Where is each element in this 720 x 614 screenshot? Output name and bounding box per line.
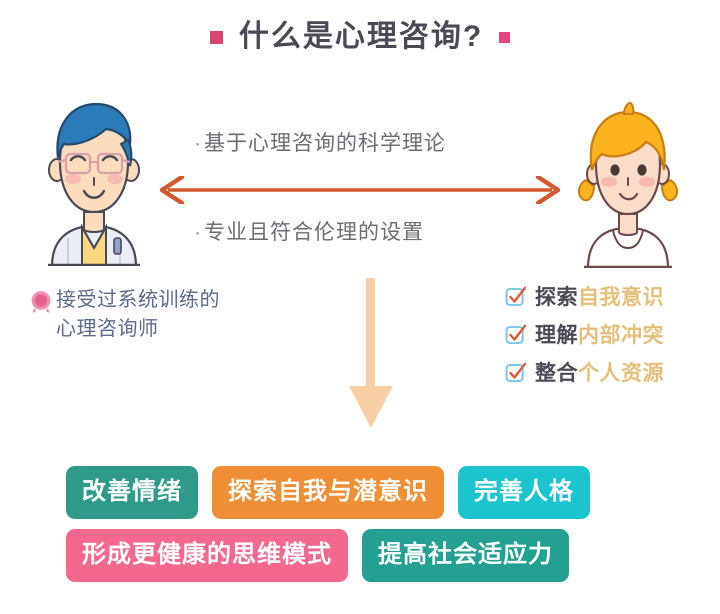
counselor-caption: 接受过系统训练的 心理咨询师 <box>30 286 280 344</box>
checklist-item-3[interactable]: 整合个人资源 <box>505 357 705 387</box>
outcome-tag-healthier-thinking[interactable]: 形成更健康的思维模式 <box>66 529 348 582</box>
page-title-text: 什么是心理咨询? <box>239 22 483 52</box>
female-client-avatar <box>558 98 698 268</box>
checklist-item-3-prefix: 整合 <box>535 362 578 385</box>
checklist-item-1-suffix: 自我意识 <box>578 286 664 309</box>
medal-rosette-icon <box>30 289 52 313</box>
center-relationship-block: ·基于心理咨询的科学理论 ·专业且符合伦理的设置 <box>150 140 570 240</box>
checklist-item-3-suffix: 个人资源 <box>578 362 664 385</box>
center-line-1-text: 基于心理咨询的科学理论 <box>204 132 446 155</box>
outcome-tag-improve-emotion[interactable]: 改善情绪 <box>66 466 198 519</box>
checkbox-checked-icon[interactable] <box>505 286 526 307</box>
goals-checklist: 探索自我意识 理解内部冲突 整合个人资源 <box>505 281 705 395</box>
square-bullet-icon-left <box>210 31 223 44</box>
down-arrow-icon <box>341 278 401 430</box>
infographic-canvas: 什么是心理咨询? <box>0 0 720 614</box>
center-line-2: ·专业且符合伦理的设置 <box>194 221 534 244</box>
center-line-1: ·基于心理咨询的科学理论 <box>194 132 534 155</box>
center-line-2-dot: · <box>194 221 202 244</box>
outcome-tag-row-2: 形成更健康的思维模式 提高社会适应力 <box>0 529 720 582</box>
checklist-item-2-prefix: 理解 <box>535 324 578 347</box>
checkbox-checked-icon[interactable] <box>505 362 526 383</box>
checklist-item-1[interactable]: 探索自我意识 <box>505 281 705 311</box>
checklist-item-1-prefix: 探索 <box>535 286 578 309</box>
outcome-tag-explore-self[interactable]: 探索自我与潜意识 <box>212 466 444 519</box>
page-title: 什么是心理咨询? <box>0 22 720 52</box>
outcome-tag-row-1: 改善情绪 探索自我与潜意识 完善人格 <box>0 466 720 519</box>
center-text-lines: ·基于心理咨询的科学理论 ·专业且符合伦理的设置 <box>194 132 534 244</box>
outcome-tag-social-adaptation[interactable]: 提高社会适应力 <box>362 529 569 582</box>
counselor-caption-text-2: 心理咨询师 <box>56 315 280 344</box>
square-bullet-icon-right <box>499 32 510 43</box>
checkbox-checked-icon[interactable] <box>505 324 526 345</box>
counselor-caption-text-1: 接受过系统训练的 <box>56 286 220 315</box>
center-line-2-text: 专业且符合伦理的设置 <box>204 221 424 244</box>
male-counselor-avatar <box>24 96 164 266</box>
checklist-item-2-suffix: 内部冲突 <box>578 324 664 347</box>
checklist-item-2[interactable]: 理解内部冲突 <box>505 319 705 349</box>
outcome-tag-perfect-personality[interactable]: 完善人格 <box>458 466 590 519</box>
outcome-tags: 改善情绪 探索自我与潜意识 完善人格 形成更健康的思维模式 提高社会适应力 <box>0 466 720 592</box>
center-line-1-dot: · <box>194 132 202 155</box>
counselor-caption-line-1: 接受过系统训练的 <box>30 286 280 315</box>
